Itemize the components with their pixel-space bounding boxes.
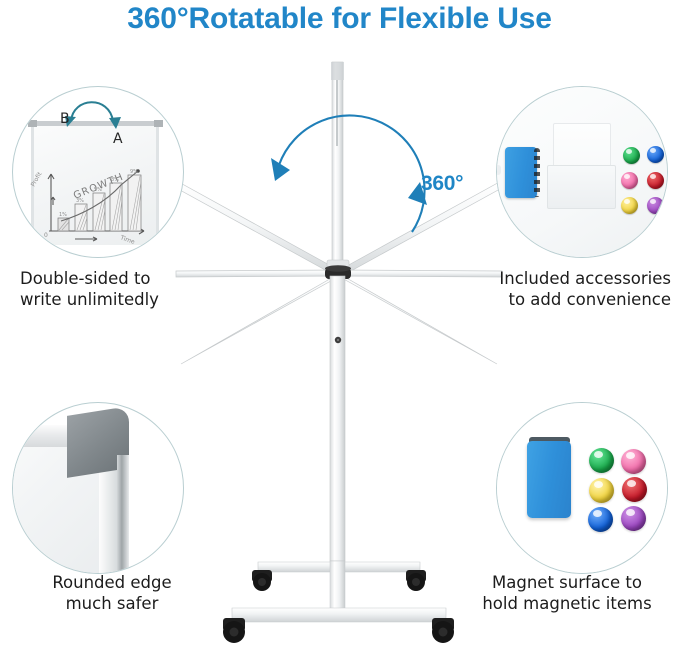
magnet-blue bbox=[647, 146, 664, 163]
caster-wheels bbox=[223, 570, 454, 643]
caption-magnet-surface: Magnet surface to hold magnetic items bbox=[463, 572, 671, 615]
caption-line: Rounded edge bbox=[8, 572, 216, 593]
magnet-pink bbox=[621, 449, 646, 474]
base-lower-crossbar bbox=[232, 608, 446, 622]
feature-image-magnet-surface bbox=[496, 402, 668, 574]
magnet-red bbox=[622, 477, 647, 502]
svg-text:9%: 9% bbox=[130, 169, 138, 175]
whiteboard-eraser bbox=[505, 147, 537, 198]
whiteboard-eraser bbox=[527, 441, 571, 518]
caption-line: write unlimitedly bbox=[20, 289, 228, 310]
caster-wheel bbox=[406, 570, 426, 591]
feature-graphic: 360°Rotatable for Flexible Use bbox=[0, 0, 679, 657]
svg-text:3%: 3% bbox=[76, 198, 84, 204]
magnet-green bbox=[589, 448, 614, 473]
magnet-pink bbox=[621, 172, 638, 189]
feature-image-rounded-edge bbox=[12, 402, 184, 574]
caption-accessories: Included accessories to add convenience bbox=[463, 268, 679, 311]
caption-line: to add convenience bbox=[463, 289, 671, 310]
feature-image-double-sided: GROWTH Profit Time 0 1% 3% 5% 8% 9% B A bbox=[12, 86, 184, 258]
telescoping-pole bbox=[332, 62, 343, 274]
caption-line: much safer bbox=[8, 593, 216, 614]
marker-tray-lip bbox=[547, 165, 616, 209]
caption-double-sided: Double-sided to write unlimitedly bbox=[8, 268, 228, 311]
caption-line: Included accessories bbox=[463, 268, 671, 289]
magnet-red bbox=[647, 172, 664, 189]
side-label-b: B bbox=[60, 111, 70, 127]
magnet-purple bbox=[647, 197, 664, 214]
svg-text:1%: 1% bbox=[59, 212, 67, 218]
magnet-yellow bbox=[621, 197, 638, 214]
rotation-hub bbox=[325, 260, 351, 279]
caster-wheel bbox=[223, 618, 245, 643]
rotation-arrowhead-left bbox=[271, 158, 290, 181]
rotation-arrow-icon bbox=[279, 115, 425, 232]
base-upper-crossbar bbox=[258, 562, 420, 572]
svg-text:Profit: Profit bbox=[30, 170, 44, 188]
magnet-purple bbox=[621, 506, 646, 531]
caster-wheel bbox=[432, 618, 454, 643]
caster-wheel bbox=[252, 570, 272, 591]
caption-line: hold magnetic items bbox=[463, 593, 671, 614]
eraser-handle bbox=[496, 165, 501, 175]
magnet-yellow bbox=[589, 478, 614, 503]
svg-text:Time: Time bbox=[118, 234, 135, 246]
whiteboard-sketch: GROWTH Profit Time 0 1% 3% 5% 8% 9% bbox=[13, 87, 184, 258]
magnet-green bbox=[623, 147, 640, 164]
svg-text:5%: 5% bbox=[94, 187, 102, 193]
svg-text:8%: 8% bbox=[111, 177, 119, 183]
svg-text:0: 0 bbox=[44, 232, 48, 239]
caption-rounded-edge: Rounded edge much safer bbox=[8, 572, 216, 615]
page-title: 360°Rotatable for Flexible Use bbox=[0, 2, 679, 36]
side-label-a: A bbox=[113, 131, 123, 147]
frame-edge-highlight bbox=[117, 455, 129, 574]
feature-image-accessories bbox=[496, 86, 668, 258]
caption-line: Double-sided to bbox=[20, 268, 228, 289]
magnet-blue bbox=[588, 507, 613, 532]
main-column bbox=[330, 276, 345, 561]
caption-line: Magnet surface to bbox=[463, 572, 671, 593]
rotation-degree-label: 360° bbox=[421, 172, 463, 196]
